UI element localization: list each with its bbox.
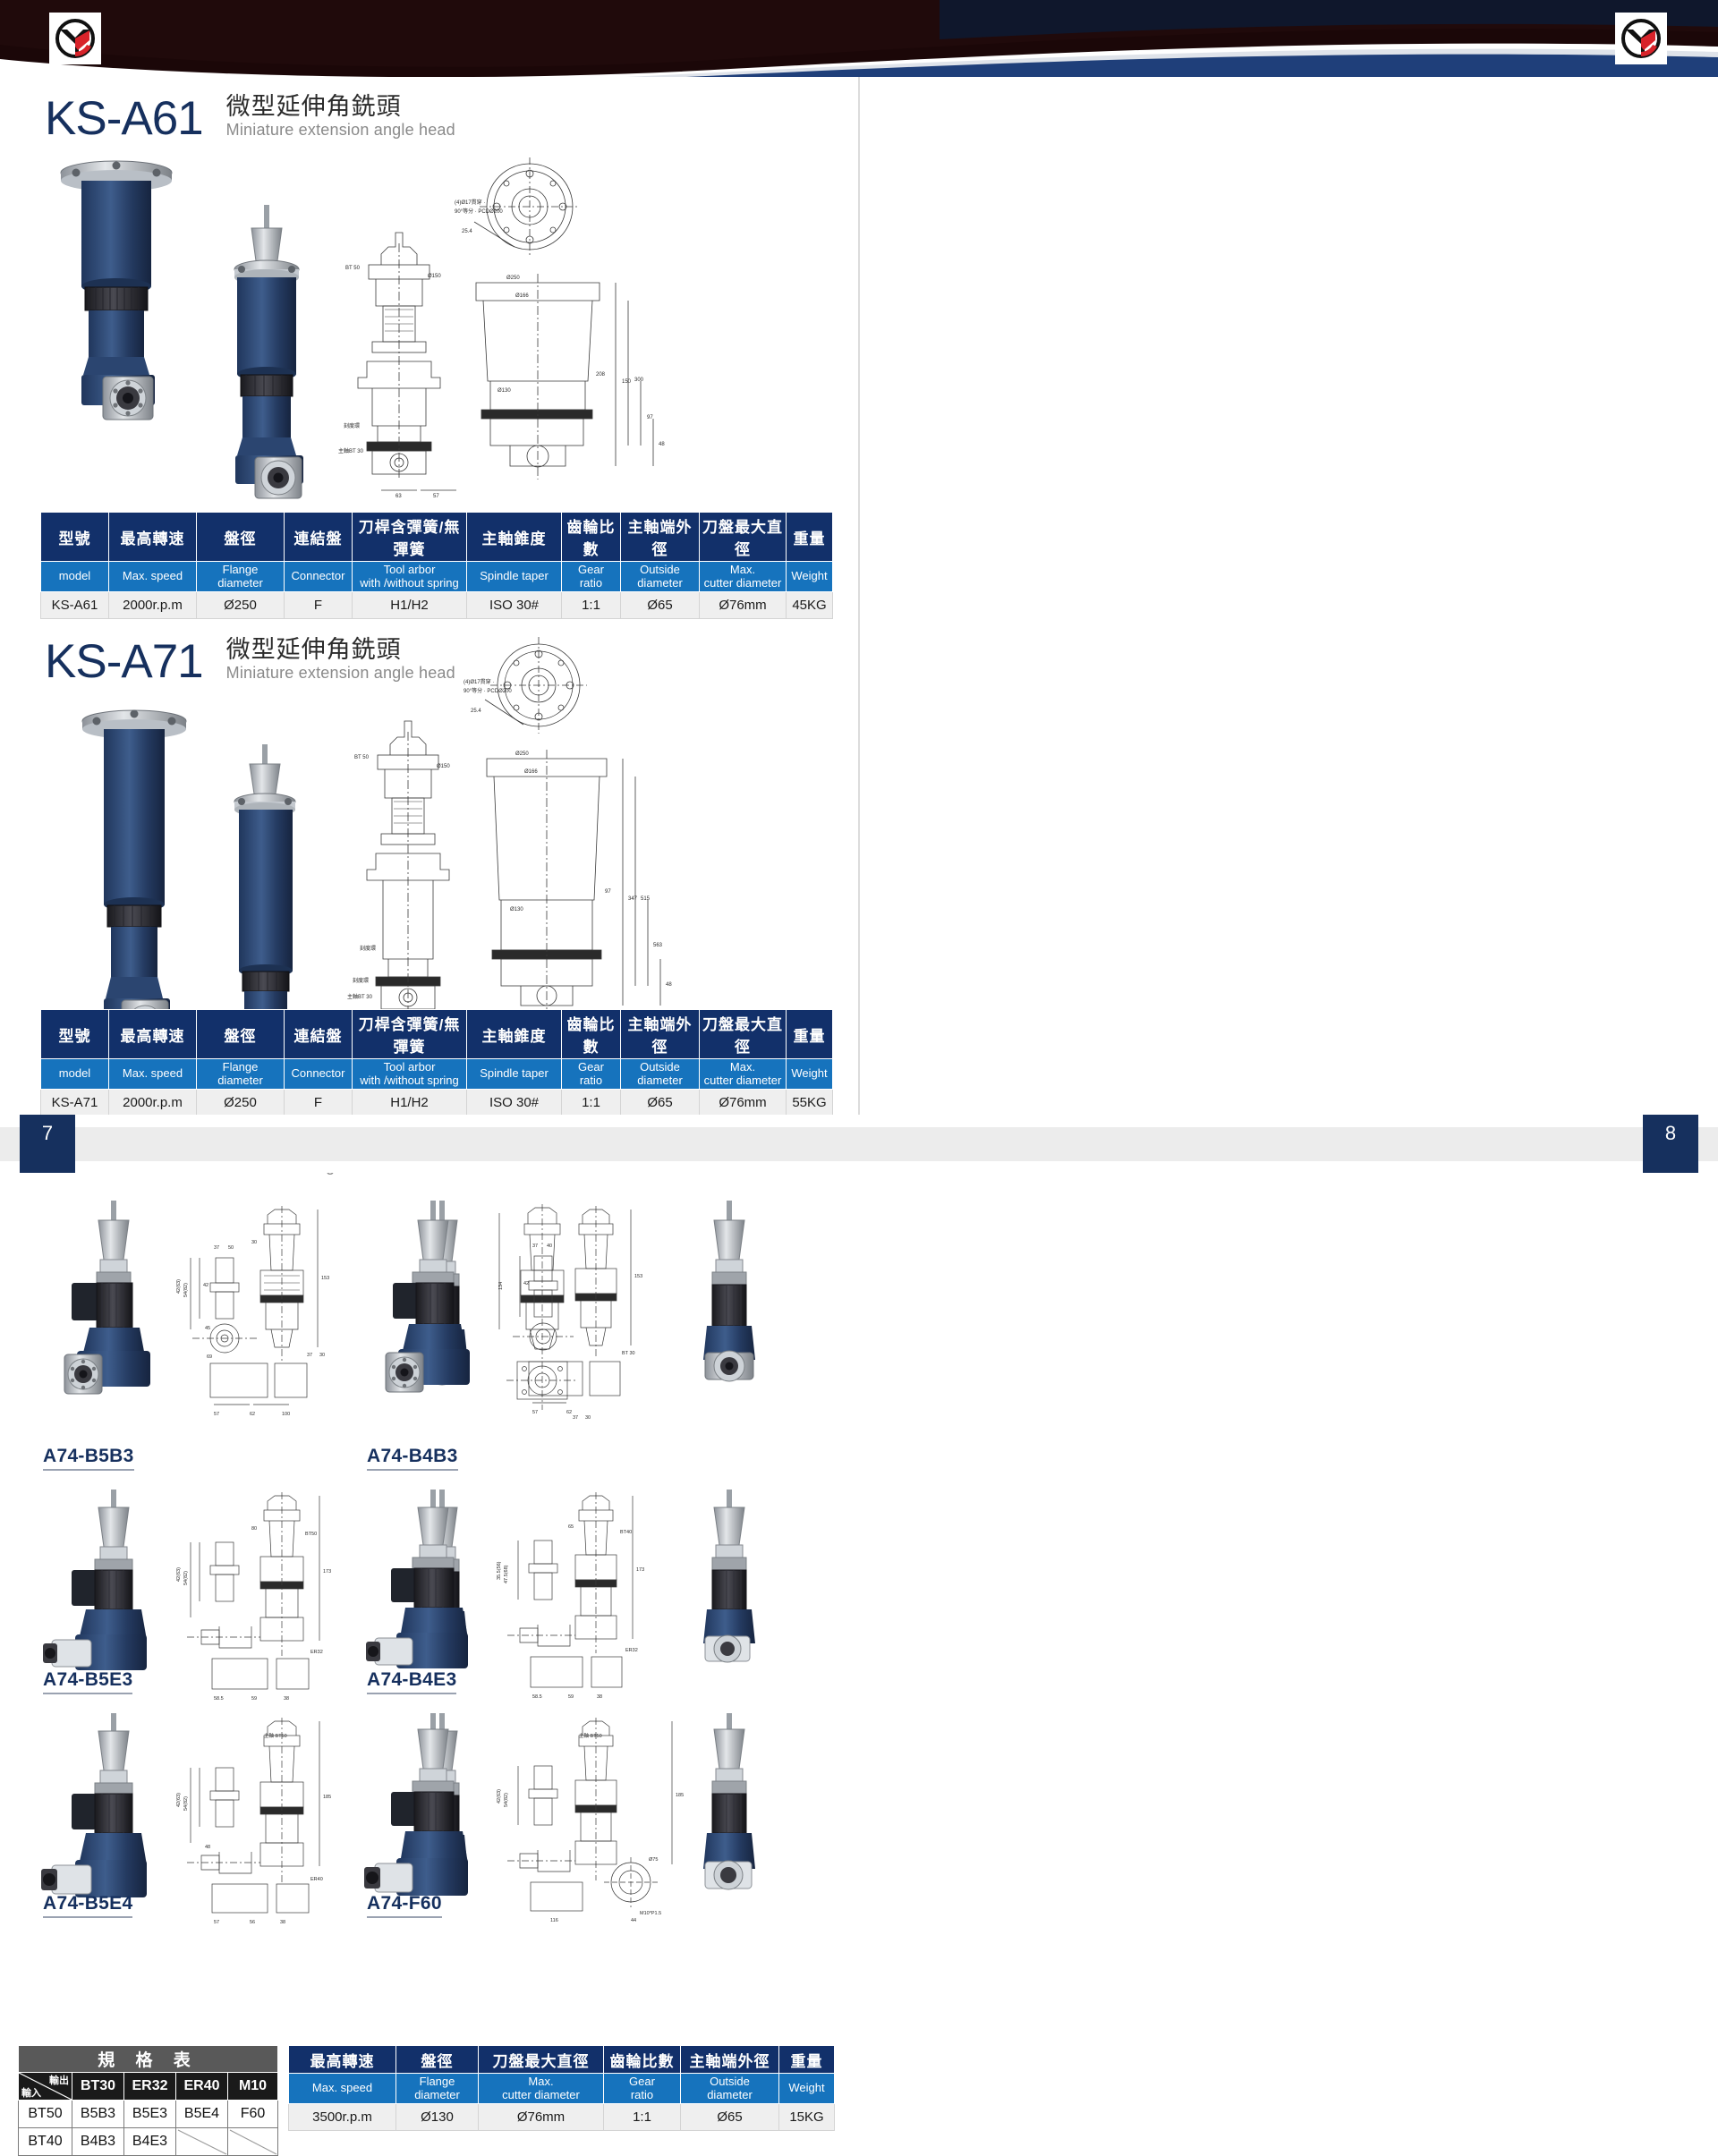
- svg-text:42(63): 42(63): [176, 1567, 182, 1582]
- model-label-b5e4: A74-B5E4: [43, 1893, 132, 1918]
- svg-text:42(63): 42(63): [497, 1789, 502, 1804]
- svg-text:90°等分 · PCDØ200: 90°等分 · PCDØ200: [464, 687, 512, 694]
- matrix-cell: B4B3: [72, 2128, 124, 2156]
- svg-text:59: 59: [568, 1694, 574, 1700]
- svg-text:58.5: 58.5: [214, 1696, 224, 1702]
- catalog-spread: KS-A61 微型延伸角銑頭 Miniature extension angle…: [0, 77, 1718, 1115]
- svg-text:30: 30: [251, 1240, 257, 1245]
- th-weight-en: Weight: [779, 2074, 835, 2104]
- table-row: KS-A61 2000r.p.m Ø250 F H1/H2 ISO 30# 1:…: [41, 592, 833, 619]
- svg-text:Ø166: Ø166: [524, 769, 538, 775]
- svg-text:563: 563: [653, 943, 663, 948]
- matrix-title: 規 格 表: [19, 2046, 278, 2073]
- th-flange-cn: 盤徑: [197, 513, 285, 562]
- svg-text:Ø166: Ø166: [515, 293, 529, 299]
- cell-cutter: Ø76mm: [700, 1090, 787, 1116]
- svg-text:42: 42: [523, 1281, 529, 1286]
- matrix-col-er40: ER40: [176, 2073, 228, 2101]
- th-outside-en: Outside diameter: [621, 1059, 700, 1090]
- svg-text:Ø250: Ø250: [515, 751, 529, 757]
- model-label-b4e3: A74-B4E3: [367, 1669, 456, 1694]
- th-arbor-cn: 刀桿含彈簧/無彈簧: [353, 513, 467, 562]
- th-connector-en: Connector: [285, 1059, 353, 1090]
- product-render-a74-f60-side: [680, 1710, 778, 1929]
- th-arbor-en: Tool arbor with /without spring: [353, 1059, 467, 1090]
- cell-flange: Ø250: [197, 592, 285, 619]
- svg-text:主軸 BT50: 主軸 BT50: [579, 1732, 602, 1739]
- th-gear-en: Gear ratio: [604, 2074, 681, 2104]
- th-cutter-cn: 刀盤最大直徑: [700, 513, 787, 562]
- svg-text:37: 37: [532, 1244, 538, 1249]
- th-gear-cn: 齒輪比數: [604, 2046, 681, 2074]
- page-right: KS-A74 微型角銑頭 Miniature angle head: [0, 1115, 859, 2152]
- cell-weight: 55KG: [787, 1090, 833, 1116]
- svg-text:54(82): 54(82): [183, 1571, 189, 1585]
- svg-text:42(63): 42(63): [176, 1793, 182, 1807]
- svg-text:515: 515: [641, 896, 651, 902]
- model-label-b5e3: A74-B5E3: [43, 1669, 132, 1694]
- svg-text:347: 347: [628, 896, 638, 902]
- th-model-en: model: [41, 1059, 109, 1090]
- svg-text:153: 153: [321, 1276, 329, 1281]
- table-header-row-cn: 最高轉速 盤徑 刀盤最大直徑 齒輪比數 主軸端外徑 重量: [289, 2046, 835, 2074]
- svg-text:57: 57: [532, 1410, 538, 1415]
- technical-drawing-a74-b4e3: 65 BT40 35.5(56) 47.5(68) 173 ER32 58.55…: [497, 1490, 689, 1705]
- th-speed-cn: 最高轉速: [289, 2046, 396, 2074]
- cell-outside: Ø65: [681, 2104, 779, 2131]
- cell-gear: 1:1: [604, 2104, 681, 2131]
- svg-text:54(82): 54(82): [504, 1793, 509, 1807]
- th-taper-en: Spindle taper: [467, 562, 562, 592]
- svg-text:刻度環: 刻度環: [344, 422, 360, 429]
- technical-drawing-a74-f60: 主軸 BT50 42(63) 54(82) 185 Ø75 M10*P1.5 1…: [497, 1714, 689, 1929]
- svg-text:38: 38: [597, 1694, 602, 1700]
- cell-gear: 1:1: [562, 1090, 621, 1116]
- cell-outside: Ø65: [621, 592, 700, 619]
- th-cutter-en: Max. cutter diameter: [700, 1059, 787, 1090]
- page-footer: 7 8: [0, 1115, 1718, 1173]
- matrix-title-row: 規 格 表: [19, 2046, 278, 2073]
- cell-connector: F: [285, 1090, 353, 1116]
- svg-text:100: 100: [282, 1412, 290, 1417]
- matrix-cell-empty: [228, 2128, 278, 2156]
- model-code: KS-A71: [45, 638, 203, 685]
- title-chinese: 微型延伸角銑頭: [226, 93, 455, 121]
- svg-text:38: 38: [284, 1696, 289, 1702]
- th-outside-en: Outside diameter: [681, 2074, 779, 2104]
- th-weight-en: Weight: [787, 562, 833, 592]
- cell-arbor: H1/H2: [353, 1090, 467, 1116]
- th-outside-en: Outside diameter: [621, 562, 700, 592]
- svg-text:150: 150: [622, 379, 632, 385]
- svg-text:25.4: 25.4: [462, 229, 472, 234]
- model-label-f60: A74-F60: [367, 1893, 442, 1918]
- table-row: KS-A71 2000r.p.m Ø250 F H1/H2 ISO 30# 1:…: [41, 1090, 833, 1116]
- product-render-a74-b4b3-side: [680, 1197, 778, 1425]
- th-speed-en: Max. speed: [289, 2074, 396, 2104]
- svg-text:主軸BT 30: 主軸BT 30: [347, 993, 373, 1000]
- cell-speed: 2000r.p.m: [109, 1090, 197, 1116]
- cell-cutter: Ø76mm: [479, 2104, 604, 2131]
- svg-text:134: 134: [498, 1282, 504, 1290]
- svg-text:BT 50: BT 50: [354, 755, 370, 760]
- svg-text:37: 37: [307, 1353, 312, 1358]
- svg-text:BT40: BT40: [620, 1530, 632, 1535]
- cell-model: KS-A71: [41, 1090, 109, 1116]
- svg-text:Ø250: Ø250: [506, 276, 520, 281]
- matrix-row-bt40: BT40 B4B3 B4E3: [19, 2128, 278, 2156]
- th-speed-en: Max. speed: [109, 1059, 197, 1090]
- svg-text:63: 63: [395, 494, 402, 499]
- th-cutter-cn: 刀盤最大直徑: [700, 1010, 787, 1059]
- svg-text:59: 59: [251, 1696, 257, 1702]
- logo-right: [1615, 13, 1667, 64]
- th-cutter-en: Max. cutter diameter: [479, 2074, 604, 2104]
- svg-text:ER32: ER32: [310, 1650, 323, 1655]
- svg-text:116: 116: [550, 1918, 558, 1923]
- table-header-row-cn: 型號 最高轉速 盤徑 連結盤 刀桿含彈簧/無彈簧 主軸錐度 齒輪比數 主軸端外徑…: [41, 513, 833, 562]
- th-flange-cn: 盤徑: [197, 1010, 285, 1059]
- matrix-cell: B5E4: [176, 2101, 228, 2128]
- svg-text:45: 45: [205, 1326, 210, 1331]
- cell-speed: 2000r.p.m: [109, 592, 197, 619]
- svg-text:42(63): 42(63): [176, 1279, 182, 1294]
- th-flange-en: Flange diameter: [197, 562, 285, 592]
- matrix-cell: F60: [228, 2101, 278, 2128]
- svg-text:25.4: 25.4: [471, 709, 481, 714]
- th-weight-en: Weight: [787, 1059, 833, 1090]
- svg-text:主軸 BT50: 主軸 BT50: [264, 1732, 287, 1739]
- matrix-cell: B5E3: [124, 2101, 176, 2128]
- svg-text:54(82): 54(82): [183, 1283, 189, 1297]
- product-render-a61-b: [192, 198, 353, 524]
- cell-gear: 1:1: [562, 592, 621, 619]
- svg-text:208: 208: [596, 372, 606, 378]
- section-title-ks-a61: KS-A61 微型延伸角銑頭 Miniature extension angle…: [45, 93, 455, 142]
- svg-text:(4)Ø17貫穿 ·: (4)Ø17貫穿 ·: [464, 678, 494, 685]
- svg-text:48: 48: [659, 442, 665, 447]
- product-render-a74-b4e3-side: [680, 1486, 778, 1705]
- th-flange-en: Flange diameter: [197, 1059, 285, 1090]
- svg-text:47.5(68): 47.5(68): [504, 1565, 509, 1583]
- table-row: 3500r.p.m Ø130 Ø76mm 1:1 Ø65 15KG: [289, 2104, 835, 2131]
- svg-text:Ø130: Ø130: [498, 388, 511, 394]
- svg-text:Ø130: Ø130: [510, 907, 523, 912]
- th-connector-en: Connector: [285, 562, 353, 592]
- th-gear-en: Gear ratio: [562, 562, 621, 592]
- logo-left: [49, 13, 101, 64]
- svg-text:Ø150: Ø150: [437, 764, 450, 769]
- svg-text:153: 153: [634, 1274, 642, 1279]
- svg-text:30: 30: [319, 1353, 325, 1358]
- technical-drawing-a61: (4)Ø17貫穿 · 90°等分 · PCDØ200 25.4 BT 50 Ø1…: [331, 157, 680, 506]
- matrix-cell: B4E3: [124, 2128, 176, 2156]
- model-label-b4b3: A74-B4B3: [367, 1446, 458, 1471]
- svg-text:69: 69: [207, 1354, 212, 1360]
- table-header-row-cn: 型號 最高轉速 盤徑 連結盤 刀桿含彈簧/無彈簧 主軸錐度 齒輪比數 主軸端外徑…: [41, 1010, 833, 1059]
- th-taper-cn: 主軸錐度: [467, 1010, 562, 1059]
- svg-text:M10*P1.5: M10*P1.5: [640, 1911, 661, 1916]
- svg-text:37: 37: [214, 1245, 219, 1251]
- svg-text:主軸BT 30: 主軸BT 30: [338, 447, 364, 454]
- table-header-row-en: model Max. speed Flange diameter Connect…: [41, 562, 833, 592]
- svg-text:48: 48: [205, 1845, 210, 1850]
- th-model-cn: 型號: [41, 1010, 109, 1059]
- svg-text:80: 80: [251, 1526, 257, 1532]
- model-code: KS-A61: [45, 95, 203, 142]
- th-taper-cn: 主軸錐度: [467, 513, 562, 562]
- svg-text:97: 97: [605, 889, 611, 895]
- svg-text:173: 173: [323, 1569, 331, 1575]
- svg-text:58.5: 58.5: [532, 1694, 542, 1700]
- page-number-left: 7: [20, 1115, 75, 1173]
- specification-matrix-a74: 規 格 表 輸出 輸入 BT30 ER32 ER40: [18, 2045, 278, 2156]
- table-header-row-en: Max. speed Flange diameter Max. cutter d…: [289, 2074, 835, 2104]
- svg-text:44: 44: [631, 1918, 636, 1923]
- cell-taper: ISO 30#: [467, 1090, 562, 1116]
- th-gear-en: Gear ratio: [562, 1059, 621, 1090]
- th-arbor-cn: 刀桿含彈簧/無彈簧: [353, 1010, 467, 1059]
- cell-model: KS-A61: [41, 592, 109, 619]
- th-connector-cn: 連結盤: [285, 1010, 353, 1059]
- footer-bar: [0, 1127, 1718, 1161]
- svg-text:90°等分 · PCDØ200: 90°等分 · PCDØ200: [455, 208, 503, 215]
- svg-text:Ø75: Ø75: [649, 1857, 658, 1863]
- th-cutter-en: Max. cutter diameter: [700, 562, 787, 592]
- svg-text:97: 97: [647, 415, 653, 420]
- th-gear-cn: 齒輪比數: [562, 513, 621, 562]
- svg-text:56: 56: [250, 1920, 255, 1925]
- spec-table-ks-a71: 型號 最高轉速 盤徑 連結盤 刀桿含彈簧/無彈簧 主軸錐度 齒輪比數 主軸端外徑…: [40, 1009, 833, 1116]
- product-render-a74-b4b3-main: [361, 1197, 495, 1434]
- matrix-corner-output: 輸出: [49, 2073, 69, 2087]
- banner-graphic: [0, 0, 1718, 77]
- matrix-col-m10: M10: [228, 2073, 278, 2101]
- th-model-en: model: [41, 562, 109, 592]
- cell-flange: Ø130: [396, 2104, 479, 2131]
- svg-text:BT50: BT50: [305, 1532, 317, 1537]
- th-cutter-cn: 刀盤最大直徑: [479, 2046, 604, 2074]
- technical-drawing-a71: (4)Ø17貫穿 · 90°等分 · PCDØ200 25.4 BT 50 Ø1…: [340, 632, 689, 1052]
- svg-text:刻度環: 刻度環: [360, 945, 376, 952]
- empty-slash-icon: [176, 2128, 228, 2156]
- page-number-right: 8: [1643, 1115, 1698, 1173]
- cell-speed: 3500r.p.m: [289, 2104, 396, 2131]
- th-speed-cn: 最高轉速: [109, 513, 197, 562]
- svg-text:ER32: ER32: [625, 1648, 638, 1653]
- svg-text:刻度環: 刻度環: [353, 977, 369, 984]
- matrix-header-row: 輸出 輸入 BT30 ER32 ER40 M10: [19, 2073, 278, 2101]
- table-header-row-en: model Max. speed Flange diameter Connect…: [41, 1059, 833, 1090]
- svg-text:35.5(56): 35.5(56): [497, 1561, 502, 1580]
- th-arbor-en: Tool arbor with /without spring: [353, 562, 467, 592]
- svg-text:42: 42: [203, 1283, 208, 1288]
- cell-cutter: Ø76mm: [700, 592, 787, 619]
- th-weight-cn: 重量: [787, 1010, 833, 1059]
- spec-table-ks-a61: 型號 最高轉速 盤徑 連結盤 刀桿含彈簧/無彈簧 主軸錐度 齒輪比數 主軸端外徑…: [40, 512, 833, 619]
- svg-text:48: 48: [666, 982, 672, 988]
- spec-table-ks-a74: 最高轉速 盤徑 刀盤最大直徑 齒輪比數 主軸端外徑 重量 Max. speed …: [288, 2045, 835, 2131]
- cell-flange: Ø250: [197, 1090, 285, 1116]
- svg-text:62: 62: [566, 1410, 572, 1415]
- svg-text:BT 50: BT 50: [345, 266, 361, 271]
- svg-text:173: 173: [636, 1567, 644, 1573]
- cell-weight: 15KG: [779, 2104, 835, 2131]
- svg-text:50: 50: [228, 1245, 234, 1251]
- title-english: Miniature extension angle head: [226, 121, 455, 140]
- svg-text:38: 38: [280, 1920, 285, 1925]
- cell-arbor: H1/H2: [353, 592, 467, 619]
- top-banner: [0, 0, 1718, 77]
- th-connector-cn: 連結盤: [285, 513, 353, 562]
- svg-text:BT 30: BT 30: [622, 1351, 635, 1356]
- svg-text:300: 300: [634, 378, 644, 383]
- th-weight-cn: 重量: [787, 513, 833, 562]
- th-gear-cn: 齒輪比數: [562, 1010, 621, 1059]
- model-label-b5b3: A74-B5B3: [43, 1446, 134, 1471]
- svg-text:57: 57: [214, 1920, 219, 1925]
- svg-text:Ø150: Ø150: [428, 274, 441, 279]
- svg-text:57: 57: [214, 1412, 219, 1417]
- matrix-col-er32: ER32: [124, 2073, 176, 2101]
- cell-weight: 45KG: [787, 592, 833, 619]
- cell-taper: ISO 30#: [467, 592, 562, 619]
- matrix-row-input: BT50: [19, 2101, 72, 2128]
- empty-slash-icon: [228, 2128, 278, 2156]
- th-taper-en: Spindle taper: [467, 1059, 562, 1090]
- cell-outside: Ø65: [621, 1090, 700, 1116]
- product-render-a74-b5b3: [36, 1197, 179, 1434]
- matrix-corner-input: 輸入: [21, 2085, 41, 2100]
- svg-text:ER40: ER40: [310, 1877, 323, 1882]
- svg-text:62: 62: [250, 1412, 255, 1417]
- matrix-col-bt30: BT30: [72, 2073, 124, 2101]
- svg-text:57: 57: [433, 494, 439, 499]
- company-logo-icon: [54, 17, 97, 60]
- company-logo-icon: [1620, 17, 1663, 60]
- th-speed-en: Max. speed: [109, 562, 197, 592]
- th-outside-cn: 主軸端外徑: [621, 513, 700, 562]
- th-outside-cn: 主軸端外徑: [621, 1010, 700, 1059]
- cell-connector: F: [285, 592, 353, 619]
- svg-text:65: 65: [568, 1524, 574, 1530]
- svg-text:(4)Ø17貫穿 ·: (4)Ø17貫穿 ·: [455, 199, 485, 206]
- svg-text:185: 185: [323, 1795, 331, 1800]
- matrix-row-bt50: BT50 B5B3 B5E3 B5E4 F60: [19, 2101, 278, 2128]
- th-flange-cn: 盤徑: [396, 2046, 479, 2074]
- th-weight-cn: 重量: [779, 2046, 835, 2074]
- matrix-corner-cell: 輸出 輸入: [19, 2073, 72, 2101]
- svg-text:54(82): 54(82): [183, 1796, 189, 1811]
- th-speed-cn: 最高轉速: [109, 1010, 197, 1059]
- technical-drawing-a74-b4b3: 3740 134 42 153 BT 30 5762: [497, 1204, 689, 1428]
- th-flange-en: Flange diameter: [396, 2074, 479, 2104]
- page-left: KS-A61 微型延伸角銑頭 Miniature extension angle…: [0, 77, 859, 1115]
- matrix-cell-empty: [176, 2128, 228, 2156]
- th-outside-cn: 主軸端外徑: [681, 2046, 779, 2074]
- matrix-row-input: BT40: [19, 2128, 72, 2156]
- th-model-cn: 型號: [41, 513, 109, 562]
- matrix-cell: B5B3: [72, 2101, 124, 2128]
- svg-text:40: 40: [547, 1244, 552, 1249]
